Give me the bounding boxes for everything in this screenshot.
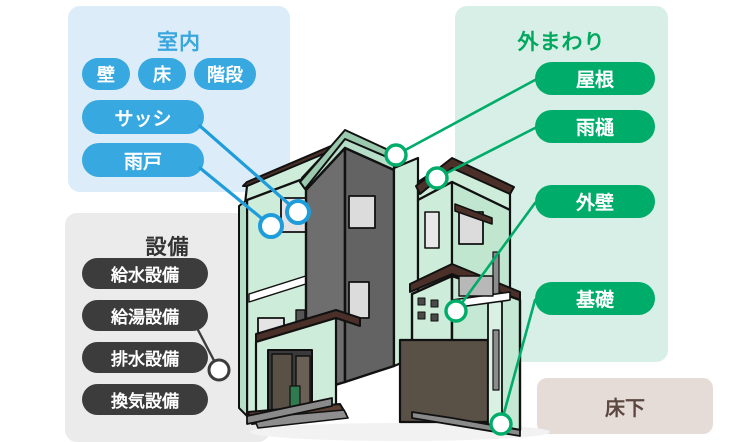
pill-exterior-rain-gutter[interactable]: 雨樋	[535, 110, 655, 143]
pill-indoor-floor[interactable]: 床	[138, 58, 186, 90]
pill-equipment-drainage[interactable]: 排水設備	[82, 342, 208, 373]
pill-exterior-roof[interactable]: 屋根	[535, 62, 655, 95]
pill-exterior-foundation[interactable]: 基礎	[535, 282, 655, 315]
pill-equipment-hot-water-supply[interactable]: 給湯設備	[82, 300, 208, 331]
pill-equipment-ventilation[interactable]: 換気設備	[82, 384, 208, 415]
pill-indoor-storm-shutter[interactable]: 雨戸	[82, 143, 204, 177]
pill-exterior-outer-wall[interactable]: 外壁	[535, 185, 655, 218]
pill-indoor-sash[interactable]: サッシ	[82, 100, 204, 134]
pill-indoor-wall[interactable]: 壁	[82, 58, 130, 90]
pill-equipment-water-supply[interactable]: 給水設備	[82, 258, 208, 289]
diagram-canvas: 室内 外まわり 設備 床下	[0, 0, 730, 442]
pill-indoor-stairs[interactable]: 階段	[194, 58, 256, 90]
